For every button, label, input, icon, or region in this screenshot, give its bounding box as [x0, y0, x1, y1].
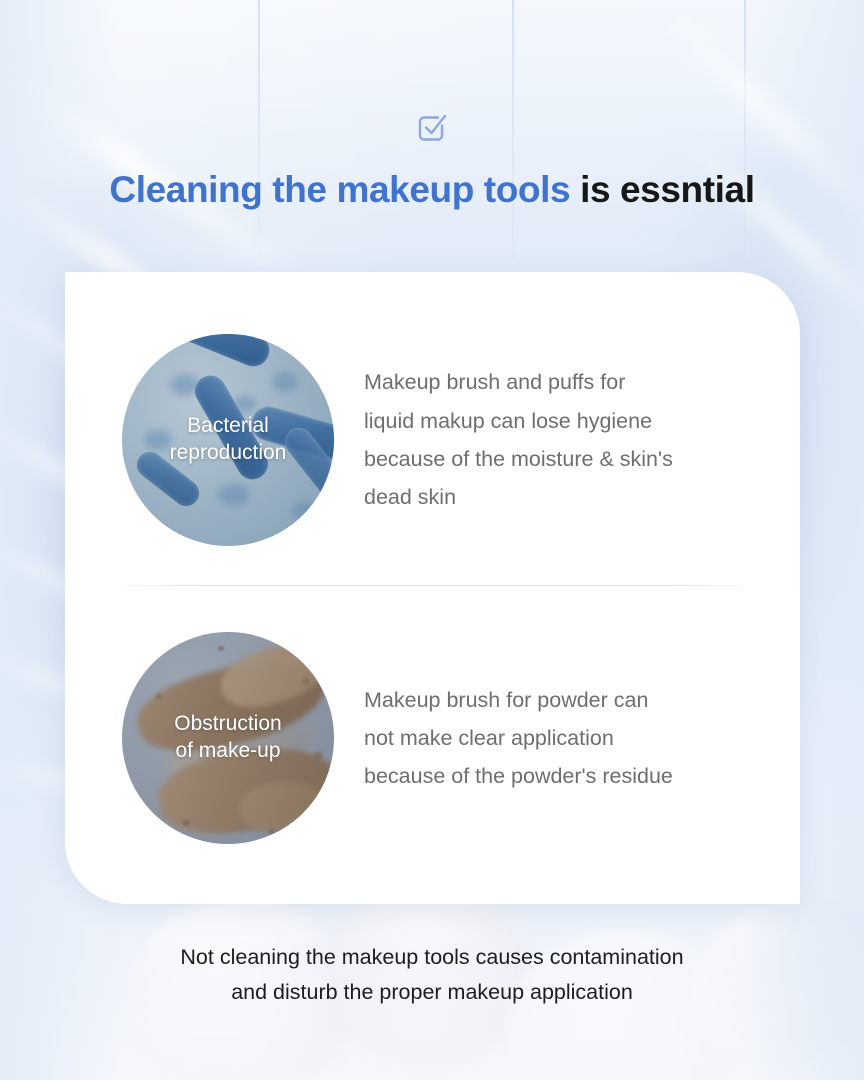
- powder-description: Makeup brush for powder can not make cle…: [364, 681, 673, 796]
- powder-description-line3: because of the powder's residue: [364, 764, 673, 788]
- bacteria-description: Makeup brush and puffs for liquid makup …: [364, 363, 673, 516]
- powder-speck: [218, 646, 224, 651]
- powder-speck: [156, 694, 162, 699]
- infographic-page: Cleaning the makeup tools is essntial Ba…: [0, 0, 864, 1080]
- bacteria-description-line1: Makeup brush and puffs for: [364, 370, 625, 394]
- footer-caption-line2: and disturb the proper makeup applicatio…: [231, 980, 633, 1004]
- content-card: Bacterial reproduction Makeup brush and …: [65, 272, 800, 904]
- powder-description-line1: Makeup brush for powder can: [364, 688, 648, 712]
- powder-speck: [314, 752, 323, 759]
- bacteria-description-line4: dead skin: [364, 485, 456, 509]
- bacteria-label-line1: Bacterial: [187, 414, 269, 437]
- content-row-bacteria: Bacterial reproduction Makeup brush and …: [65, 324, 800, 556]
- powder-speck: [302, 678, 310, 685]
- footer-caption: Not cleaning the makeup tools causes con…: [0, 940, 864, 1010]
- bacteria-description-line3: because of the moisture & skin's: [364, 447, 673, 471]
- powder-image-label: Obstruction of make-up: [168, 711, 287, 765]
- bacteria-rod: [162, 334, 274, 371]
- powder-label-line2: of make-up: [175, 739, 280, 762]
- header: Cleaning the makeup tools is essntial: [0, 106, 864, 211]
- bacteria-micrograph-image: Bacterial reproduction: [122, 334, 334, 546]
- powder-speck: [182, 820, 190, 826]
- page-title: Cleaning the makeup tools is essntial: [0, 170, 864, 211]
- powder-speck: [268, 828, 275, 834]
- content-row-powder: Obstruction of make-up Makeup brush for …: [65, 622, 800, 854]
- bacteria-image-label: Bacterial reproduction: [164, 413, 293, 467]
- page-title-plain: is essntial: [570, 169, 754, 210]
- page-title-accent: Cleaning the makeup tools: [109, 169, 570, 210]
- powder-description-line2: not make clear application: [364, 726, 614, 750]
- bacteria-description-line2: liquid makup can lose hygiene: [364, 409, 652, 433]
- powder-speck: [140, 662, 147, 668]
- makeup-powder-image: Obstruction of make-up: [122, 632, 334, 844]
- powder-label-line1: Obstruction: [174, 712, 281, 735]
- checkbox-check-icon: [412, 106, 452, 146]
- footer-caption-line1: Not cleaning the makeup tools causes con…: [180, 945, 683, 969]
- bacteria-label-line2: reproduction: [170, 441, 287, 464]
- bacteria-blob: [272, 372, 298, 392]
- bacteria-blob: [292, 502, 318, 520]
- row-divider: [122, 585, 745, 586]
- bacteria-blob: [218, 484, 250, 506]
